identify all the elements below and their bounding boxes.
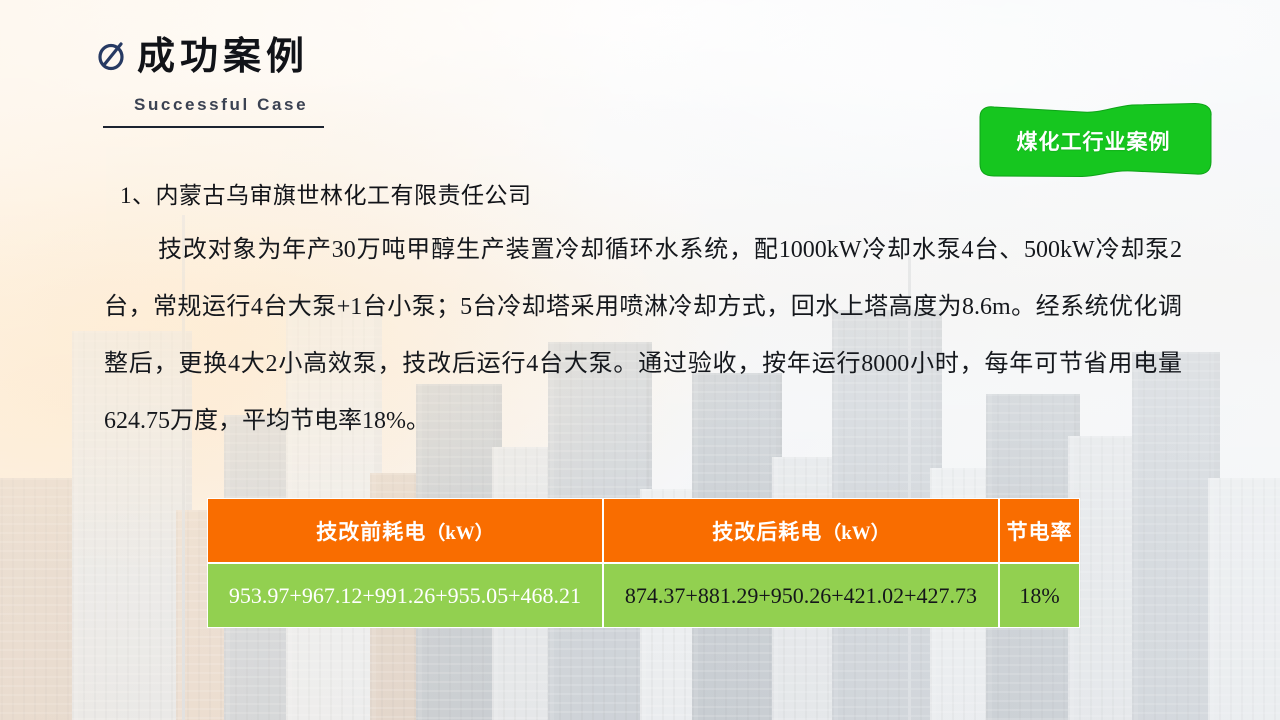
table-header-row: 技改前耗电（kW） 技改后耗电（kW） 节电率 [207, 498, 1080, 563]
cell-rate-value: 18% [999, 563, 1080, 628]
table-header-after-label: 技改后耗电 [712, 520, 822, 544]
page-subtitle: Successful Case [134, 95, 308, 115]
table-header-before-label: 技改前耗电 [316, 520, 426, 544]
content-block: 1、内蒙古乌审旗世林化工有限责任公司 技改对象为年产30万吨甲醇生产装置冷却循环… [104, 176, 1182, 450]
cell-after-value: 874.37+881.29+950.26+421.02+427.73 [603, 563, 999, 628]
table-header-rate-label: 节电率 [1007, 520, 1073, 544]
energy-comparison-table: 技改前耗电（kW） 技改后耗电（kW） 节电率 953.97+967.12+99… [207, 498, 1080, 628]
table-header-before: 技改前耗电（kW） [207, 498, 603, 563]
case-paragraph: 技改对象为年产30万吨甲醇生产装置冷却循环水系统，配1000kW冷却水泵4台、5… [104, 222, 1182, 450]
case-heading: 1、内蒙古乌审旗世林化工有限责任公司 [120, 176, 1182, 210]
table-header-after-unit: （kW） [822, 523, 890, 544]
industry-banner: 煤化工行业案例 [972, 103, 1215, 177]
page-title: 成功案例 [137, 37, 309, 75]
table-header-after: 技改后耗电（kW） [603, 498, 999, 563]
table-row: 953.97+967.12+991.26+955.05+468.21 874.3… [207, 563, 1080, 628]
page-title-row: 成功案例 [95, 37, 309, 75]
table-header-rate: 节电率 [999, 498, 1080, 563]
cell-before-value: 953.97+967.12+991.26+955.05+468.21 [207, 563, 603, 628]
industry-banner-label: 煤化工行业案例 [972, 103, 1215, 177]
circle-slash-icon [95, 39, 129, 73]
table-header-before-unit: （kW） [426, 523, 494, 544]
title-divider [103, 126, 324, 128]
slide-canvas: 成功案例 Successful Case 煤化工行业案例 1、内蒙古乌审旗世林化… [0, 0, 1280, 720]
